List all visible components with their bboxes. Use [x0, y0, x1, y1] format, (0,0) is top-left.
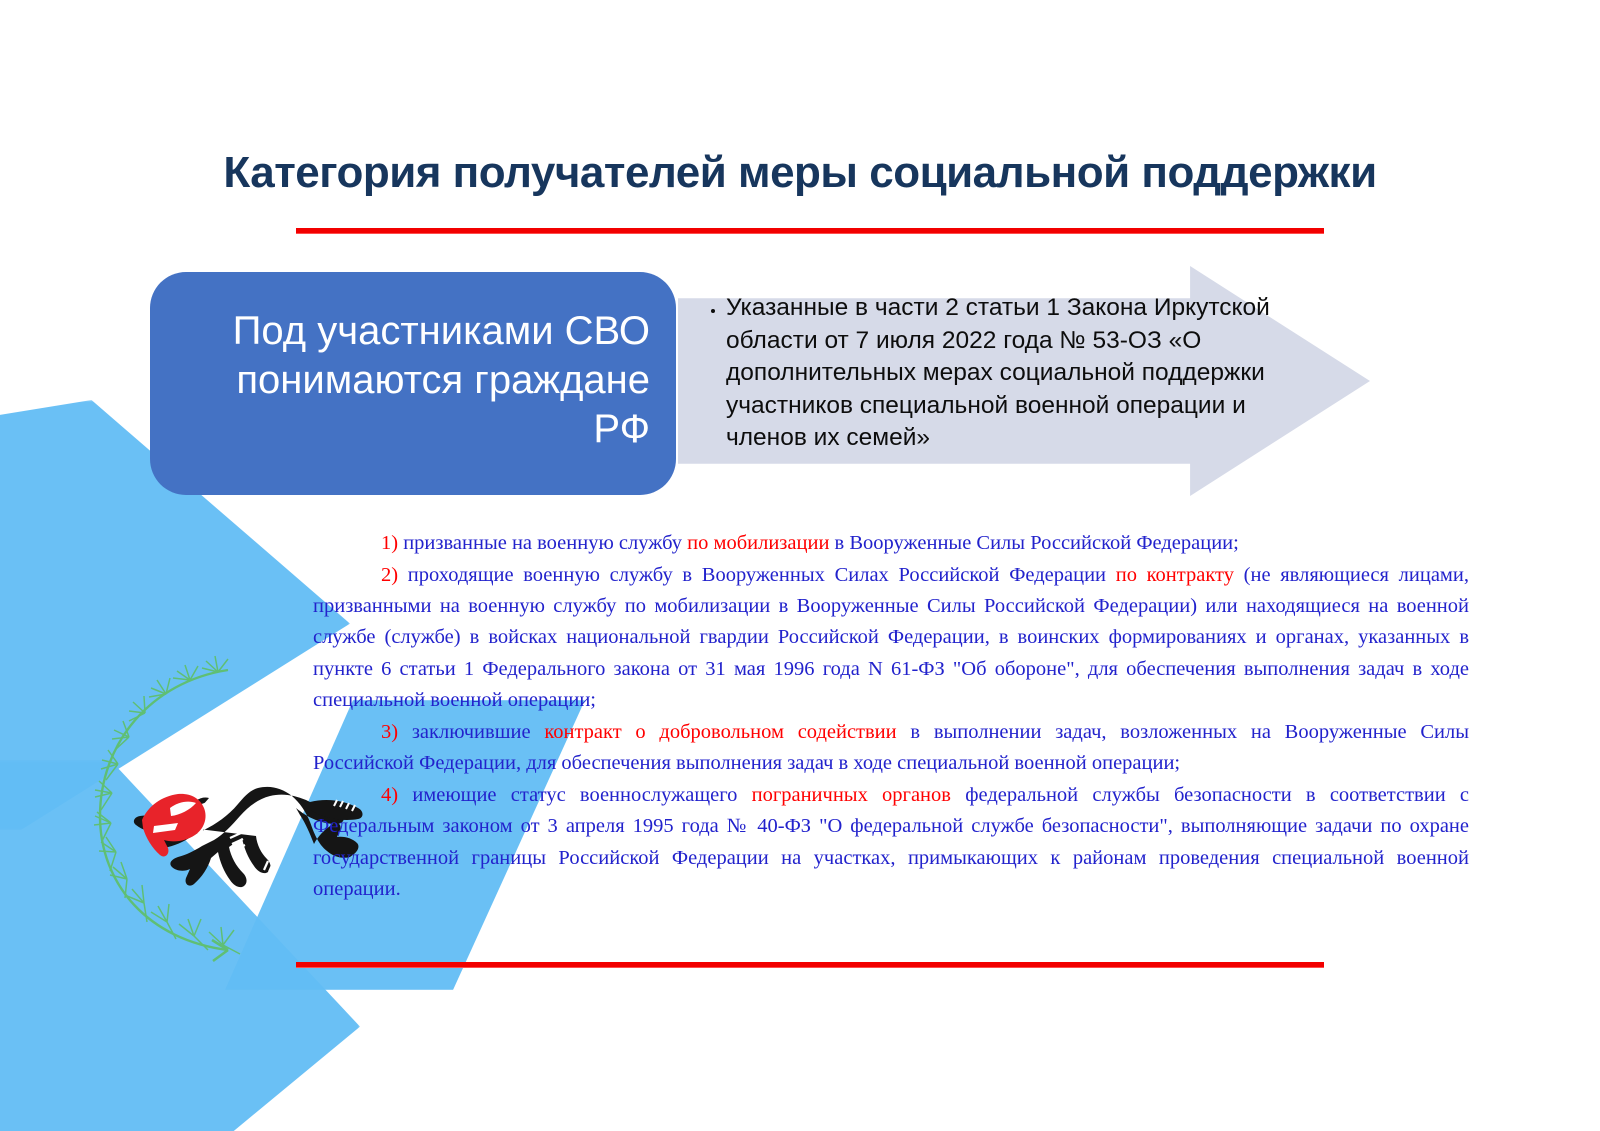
red-sable-icon: [142, 794, 206, 857]
legal-list-item: 2) проходящие военную службу в Вооруженн…: [313, 560, 1469, 716]
legal-highlight-text: по мобилизации: [687, 532, 829, 554]
legal-item-number: 3): [381, 721, 398, 743]
legal-plain-text: имеющие статус военнослужащего: [398, 784, 752, 806]
legal-body-text: 1) призванные на военную службу по мобил…: [313, 528, 1469, 906]
bottom-rule: [296, 962, 1324, 967]
legal-list-item: 4) имеющие статус военнослужащего погран…: [313, 780, 1469, 905]
title-underline-rule: [296, 228, 1324, 233]
legal-plain-text: заключившие: [398, 721, 544, 743]
legal-plain-text: призванные на военную службу: [398, 532, 687, 554]
legal-plain-text: в Вооруженные Силы Российской Федерации;: [829, 532, 1238, 554]
definition-callout: Под участниками СВО понимаются граждане …: [150, 272, 676, 495]
legal-item-number: 1): [381, 532, 398, 554]
legal-list-item: 1) призванные на военную службу по мобил…: [313, 528, 1469, 559]
arrow-bullet-list: Указанные в части 2 статьи 1 Закона Ирку…: [700, 292, 1320, 455]
arrow-bullet-item: Указанные в части 2 статьи 1 Закона Ирку…: [726, 292, 1320, 455]
legal-highlight-text: по контракту: [1116, 564, 1234, 586]
page-title: Категория получателей меры социальной по…: [60, 148, 1540, 198]
slide-canvas: Категория получателей меры социальной по…: [0, 0, 1600, 1131]
definition-callout-text: Под участниками СВО понимаются граждане …: [172, 307, 650, 453]
legal-highlight-text: контракт о добровольном содействии: [544, 721, 896, 743]
legal-highlight-text: пограничных органов: [752, 784, 951, 806]
legal-plain-text: проходящие военную службу в Вооруженных …: [398, 564, 1116, 586]
legal-item-number: 4): [381, 784, 398, 806]
legal-list-item: 3) заключившие контракт о добровольном с…: [313, 717, 1469, 779]
legal-item-number: 2): [381, 564, 398, 586]
